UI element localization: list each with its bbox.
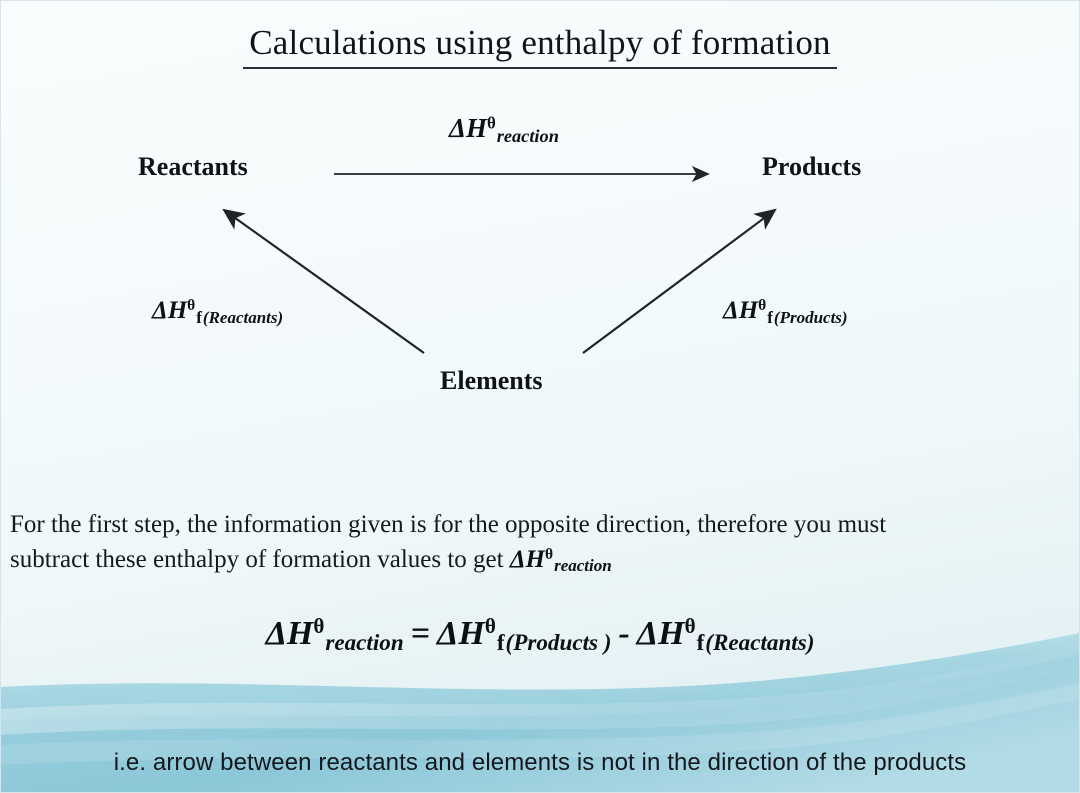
standard-state-symbol: θ (485, 614, 496, 638)
subscript-f: f (697, 630, 705, 656)
equation-term-reactants: ΔHθf(Reactants) (637, 615, 815, 652)
standard-state-symbol: θ (545, 545, 553, 562)
main-equation: ΔHθreaction=ΔHθf(Products )-ΔHθf(Reactan… (0, 614, 1080, 657)
h-symbol: H (658, 615, 684, 652)
inline-delta-h-reaction: ΔHθreaction (510, 546, 612, 573)
delta-symbol: Δ (510, 546, 526, 573)
h-symbol: H (466, 113, 487, 143)
standard-state-symbol: θ (685, 614, 696, 638)
h-symbol: H (287, 615, 313, 652)
subscript-reaction: reaction (497, 126, 559, 146)
explanation-paragraph: For the first step, the information give… (10, 508, 1070, 578)
diagram-node-products: Products (762, 152, 861, 182)
explanation-line-2: subtract these enthalpy of formation val… (10, 543, 1070, 578)
label-delta-h-formation-products: ΔHθf(Products) (723, 297, 848, 328)
delta-symbol: Δ (449, 113, 466, 143)
standard-state-symbol: θ (313, 614, 324, 638)
h-symbol: H (458, 615, 484, 652)
label-delta-h-reaction: ΔHθreaction (449, 113, 559, 147)
delta-symbol: Δ (152, 297, 168, 324)
equals-operator: = (411, 615, 430, 652)
standard-state-symbol: θ (187, 297, 195, 314)
standard-state-symbol: θ (758, 297, 766, 314)
diagram-node-elements: Elements (440, 366, 543, 396)
subscript-f: f (497, 630, 505, 656)
slide: Calculations using enthalpy of formation… (0, 0, 1080, 793)
subscript-f: f (196, 308, 202, 327)
explanation-line-1: For the first step, the information give… (10, 508, 1070, 543)
explanation-line-2-text: subtract these enthalpy of formation val… (10, 546, 510, 573)
label-delta-h-formation-reactants: ΔHθf(Reactants) (152, 297, 283, 328)
h-symbol: H (739, 297, 758, 324)
enthalpy-cycle-diagram: Reactants Products Elements ΔHθreaction … (0, 0, 1080, 440)
subscript-species: (Products) (774, 308, 848, 327)
delta-symbol: Δ (723, 297, 739, 324)
diagram-node-reactants: Reactants (138, 152, 248, 182)
subscript-species: (Reactants) (705, 630, 814, 656)
h-symbol: H (168, 297, 187, 324)
equation-term-products: ΔHθf(Products ) (437, 615, 611, 652)
subscript-species: (Products ) (506, 630, 612, 656)
equation-lhs: ΔHθreaction (266, 615, 404, 652)
standard-state-symbol: θ (487, 113, 496, 132)
delta-symbol: Δ (437, 615, 458, 652)
subscript-species: (Reactants) (203, 308, 283, 327)
delta-symbol: Δ (266, 615, 287, 652)
delta-symbol: Δ (637, 615, 658, 652)
footer-caption: i.e. arrow between reactants and element… (0, 749, 1080, 777)
arrow-elements-to-products (583, 210, 775, 353)
subscript-reaction: reaction (325, 630, 403, 656)
subscript-f: f (767, 308, 773, 327)
h-symbol: H (526, 546, 545, 573)
subscript-reaction: reaction (554, 556, 612, 575)
arrow-elements-to-reactants (224, 210, 424, 353)
minus-operator: - (618, 615, 629, 652)
